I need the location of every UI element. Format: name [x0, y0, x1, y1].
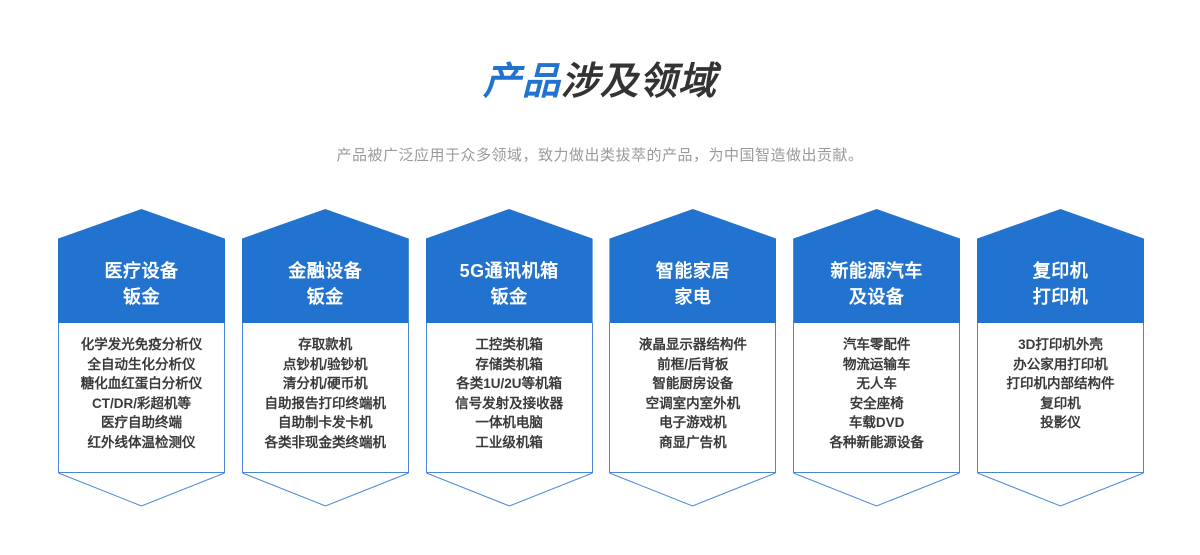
- field-card-item: 3D打印机外壳: [982, 335, 1139, 355]
- field-card[interactable]: 新能源汽车及设备汽车零配件物流运输车无人车安全座椅车载DVD各种新能源设备: [793, 209, 960, 509]
- field-card-item: 汽车零配件: [798, 335, 955, 355]
- field-card-item: 物流运输车: [798, 355, 955, 375]
- page-title: 产品涉及领域: [0, 50, 1200, 105]
- field-card-item: 无人车: [798, 374, 955, 394]
- field-card-item: 化学发光免疫分析仪: [63, 335, 220, 355]
- field-card-header: 复印机打印机: [977, 209, 1144, 323]
- field-card-item: 自助报告打印终端机: [247, 394, 404, 414]
- field-card-body: 汽车零配件物流运输车无人车安全座椅车载DVD各种新能源设备: [793, 323, 960, 473]
- field-card-item: 存储类机箱: [431, 355, 588, 375]
- field-card[interactable]: 复印机打印机3D打印机外壳办公家用打印机打印机内部结构件复印机投影仪: [977, 209, 1144, 509]
- field-card-item: 红外线体温检测仪: [63, 433, 220, 453]
- field-card-item: 商显广告机: [614, 433, 771, 453]
- field-card-row: 医疗设备钣金化学发光免疫分析仪全自动生化分析仪糖化血红蛋白分析仪CT/DR/彩超…: [58, 209, 1144, 509]
- field-card-body: 液晶显示器结构件前框/后背板智能厨房设备空调室内室外机电子游戏机商显广告机: [609, 323, 776, 473]
- field-card-item: 糖化血红蛋白分析仪: [63, 374, 220, 394]
- field-card-body: 存取款机点钞机/验钞机清分机/硬币机自助报告打印终端机自助制卡发卡机各类非现金类…: [242, 323, 409, 473]
- field-card-item: 工业级机箱: [431, 433, 588, 453]
- field-card-title-line1: 智能家居: [656, 261, 730, 281]
- field-card-footer-chevron: [609, 473, 776, 507]
- field-card-title: 智能家居家电: [609, 258, 776, 310]
- field-card-footer-chevron: [977, 473, 1144, 507]
- field-card-item: 存取款机: [247, 335, 404, 355]
- field-card-item: 智能厨房设备: [614, 374, 771, 394]
- field-card[interactable]: 金融设备钣金存取款机点钞机/验钞机清分机/硬币机自助报告打印终端机自助制卡发卡机…: [242, 209, 409, 509]
- field-card-item: 空调室内室外机: [614, 394, 771, 414]
- field-card-item: CT/DR/彩超机等: [63, 394, 220, 414]
- field-card-item: 电子游戏机: [614, 413, 771, 433]
- field-card-title-line1: 5G通讯机箱: [460, 261, 559, 281]
- field-card-title-line2: 钣金: [426, 284, 593, 310]
- field-card-item: 液晶显示器结构件: [614, 335, 771, 355]
- field-card-item: 一体机电脑: [431, 413, 588, 433]
- field-card-item: 工控类机箱: [431, 335, 588, 355]
- field-card-item: 各类非现金类终端机: [247, 433, 404, 453]
- field-card-item: 信号发射及接收器: [431, 394, 588, 414]
- field-card-header: 医疗设备钣金: [58, 209, 225, 323]
- field-card-body: 化学发光免疫分析仪全自动生化分析仪糖化血红蛋白分析仪CT/DR/彩超机等医疗自助…: [58, 323, 225, 473]
- field-card[interactable]: 医疗设备钣金化学发光免疫分析仪全自动生化分析仪糖化血红蛋白分析仪CT/DR/彩超…: [58, 209, 225, 509]
- field-card-footer-chevron: [426, 473, 593, 507]
- field-card-item: 各种新能源设备: [798, 433, 955, 453]
- field-card[interactable]: 5G通讯机箱钣金工控类机箱存储类机箱各类1U/2U等机箱信号发射及接收器一体机电…: [426, 209, 593, 509]
- field-card-title-line2: 打印机: [977, 284, 1144, 310]
- field-card-footer-chevron: [242, 473, 409, 507]
- field-card-header: 新能源汽车及设备: [793, 209, 960, 323]
- field-card-footer-chevron: [793, 473, 960, 507]
- field-card-item: 复印机: [982, 394, 1139, 414]
- field-card-header: 5G通讯机箱钣金: [426, 209, 593, 323]
- field-card-title-line1: 金融设备: [288, 261, 362, 281]
- field-card-title: 金融设备钣金: [242, 258, 409, 310]
- field-card-title-line1: 医疗设备: [105, 261, 179, 281]
- field-card-title-line2: 及设备: [793, 284, 960, 310]
- field-card-item: 车载DVD: [798, 413, 955, 433]
- field-card-item: 安全座椅: [798, 394, 955, 414]
- field-card-item: 点钞机/验钞机: [247, 355, 404, 375]
- field-card-title: 复印机打印机: [977, 258, 1144, 310]
- field-card-item: 办公家用打印机: [982, 355, 1139, 375]
- field-card-title-line1: 新能源汽车: [830, 261, 923, 281]
- field-card-item-spacer: [982, 433, 1139, 453]
- product-fields-page: 产品涉及领域 产品被广泛应用于众多领域，致力做出类拔萃的产品，为中国智造做出贡献…: [0, 0, 1200, 555]
- field-card-header: 智能家居家电: [609, 209, 776, 323]
- field-card-item: 自助制卡发卡机: [247, 413, 404, 433]
- field-card-title: 医疗设备钣金: [58, 258, 225, 310]
- field-card-item: 投影仪: [982, 413, 1139, 433]
- field-card-item: 打印机内部结构件: [982, 374, 1139, 394]
- page-title-rest: 涉及领域: [561, 61, 717, 103]
- field-card-title-line1: 复印机: [1033, 261, 1089, 281]
- field-card-item: 前框/后背板: [614, 355, 771, 375]
- field-card-item: 全自动生化分析仪: [63, 355, 220, 375]
- field-card-item: 各类1U/2U等机箱: [431, 374, 588, 394]
- field-card-title: 5G通讯机箱钣金: [426, 258, 593, 310]
- field-card-title-line2: 家电: [609, 284, 776, 310]
- page-subtitle: 产品被广泛应用于众多领域，致力做出类拔萃的产品，为中国智造做出贡献。: [0, 144, 1200, 165]
- field-card-footer-chevron: [58, 473, 225, 507]
- field-card-title: 新能源汽车及设备: [793, 258, 960, 310]
- field-card-body: 3D打印机外壳办公家用打印机打印机内部结构件复印机投影仪: [977, 323, 1144, 473]
- field-card[interactable]: 智能家居家电液晶显示器结构件前框/后背板智能厨房设备空调室内室外机电子游戏机商显…: [609, 209, 776, 509]
- field-card-item: 医疗自助终端: [63, 413, 220, 433]
- field-card-header: 金融设备钣金: [242, 209, 409, 323]
- field-card-item: 清分机/硬币机: [247, 374, 404, 394]
- field-card-body: 工控类机箱存储类机箱各类1U/2U等机箱信号发射及接收器一体机电脑工业级机箱: [426, 323, 593, 473]
- page-title-accent: 产品: [483, 61, 561, 103]
- field-card-title-line2: 钣金: [58, 284, 225, 310]
- field-card-title-line2: 钣金: [242, 284, 409, 310]
